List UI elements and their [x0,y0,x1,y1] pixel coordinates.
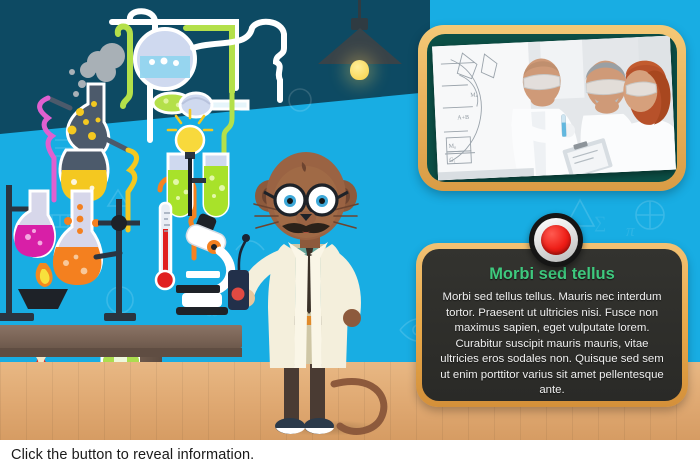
svg-text:Mₐ: Mₐ [470,92,478,98]
lamp-cord [358,0,361,20]
info-panel-inner: Morbi sed tellus Morbi sed tellus tellus… [422,249,682,401]
svg-text:G₁: G₁ [449,158,456,164]
info-panel-title: Morbi sed tellus [489,265,615,284]
scientists-photo: MₐA+B M₀G₁ [432,36,676,181]
svg-text:π: π [626,221,635,240]
photo-mat: MₐA+B M₀G₁ [427,34,677,182]
lamp-bulb-icon [350,60,369,80]
slide-stage: x=y² ∑π ∞ [0,0,700,470]
info-panel: Morbi sed tellus Morbi sed tellus tellus… [416,243,688,407]
reveal-button[interactable] [529,213,583,267]
caption-bar: Click the button to reveal information. [0,440,700,470]
button-cap-icon [541,225,571,255]
svg-text:∑: ∑ [594,213,606,232]
lab-bench-top [0,325,242,348]
info-panel-body: Morbi sed tellus tellus. Mauris nec inte… [436,290,668,399]
button-ring [534,218,578,262]
lab-bench-edge [0,348,242,357]
svg-text:A+B: A+B [457,115,469,122]
mouse-scientist-character [222,148,402,440]
svg-text:M₀: M₀ [449,143,457,149]
instruction-text: Click the button to reveal information. [0,447,254,463]
bench-glassware [0,185,240,335]
photo-frame: MₐA+B M₀G₁ [418,25,686,191]
lamp-cap [351,18,368,30]
